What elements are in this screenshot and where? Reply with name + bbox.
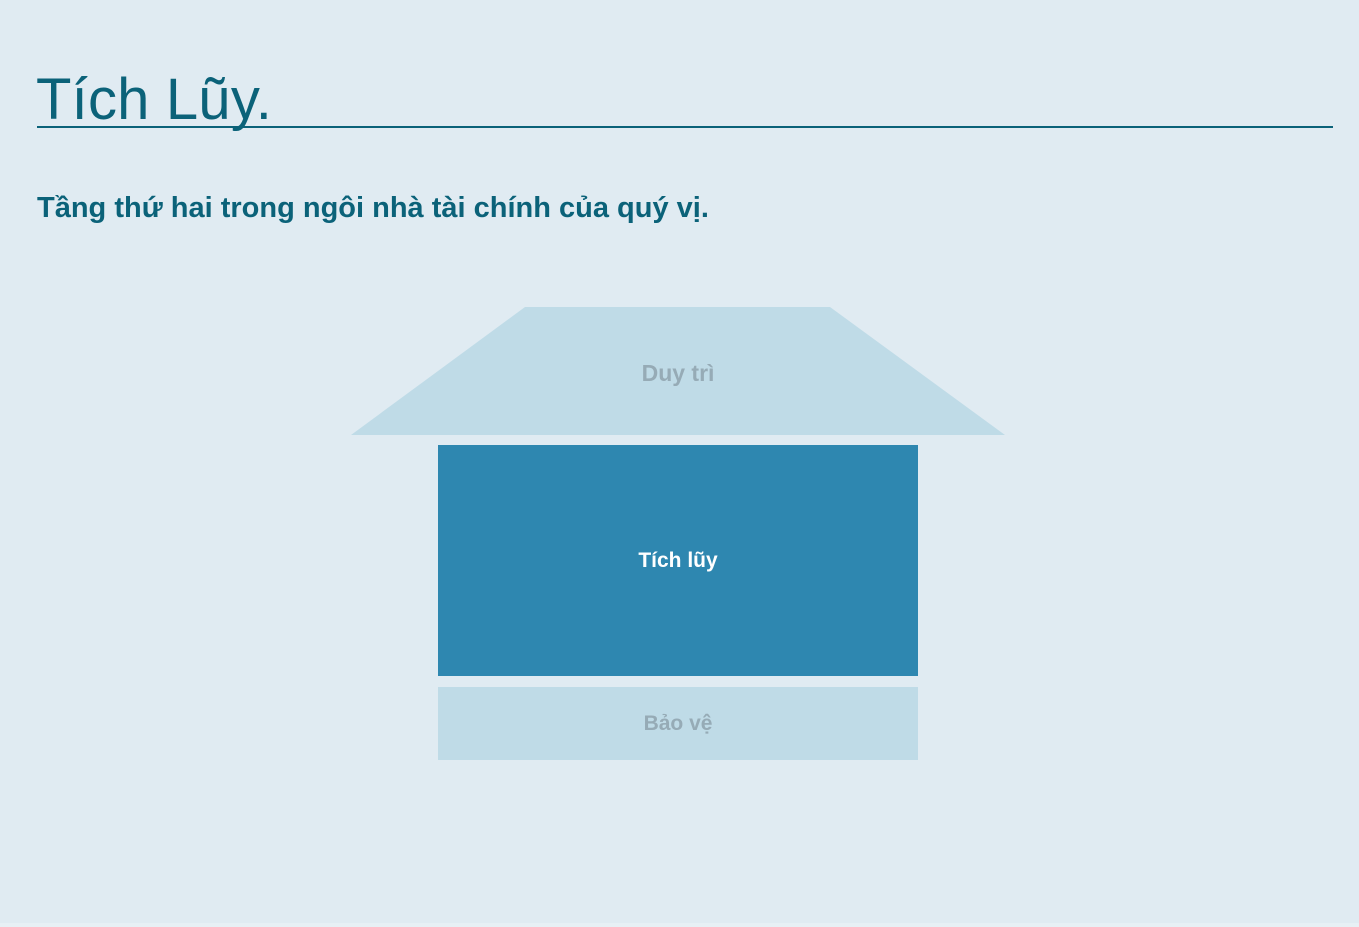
- page-title: Tích Lũy.: [36, 65, 272, 135]
- house-floor-accumulate[interactable]: Tích lũy: [438, 445, 918, 676]
- roof-trapezoid-shape: [350, 305, 1006, 436]
- page-subtitle: Tầng thứ hai trong ngôi nhà tài chính củ…: [37, 187, 709, 229]
- house-floor-protect-label: Bảo vệ: [644, 712, 713, 736]
- title-divider: [37, 126, 1333, 128]
- slide-bottom-edge: [0, 923, 1359, 927]
- house-roof-maintain[interactable]: Duy trì: [350, 305, 1006, 436]
- slide-canvas: Tích Lũy. Tầng thứ hai trong ngôi nhà tà…: [0, 0, 1359, 927]
- house-floor-protect[interactable]: Bảo vệ: [438, 687, 918, 760]
- financial-house-diagram: Duy trì Tích lũy Bảo vệ: [350, 305, 1006, 760]
- house-floor-accumulate-label: Tích lũy: [638, 549, 717, 573]
